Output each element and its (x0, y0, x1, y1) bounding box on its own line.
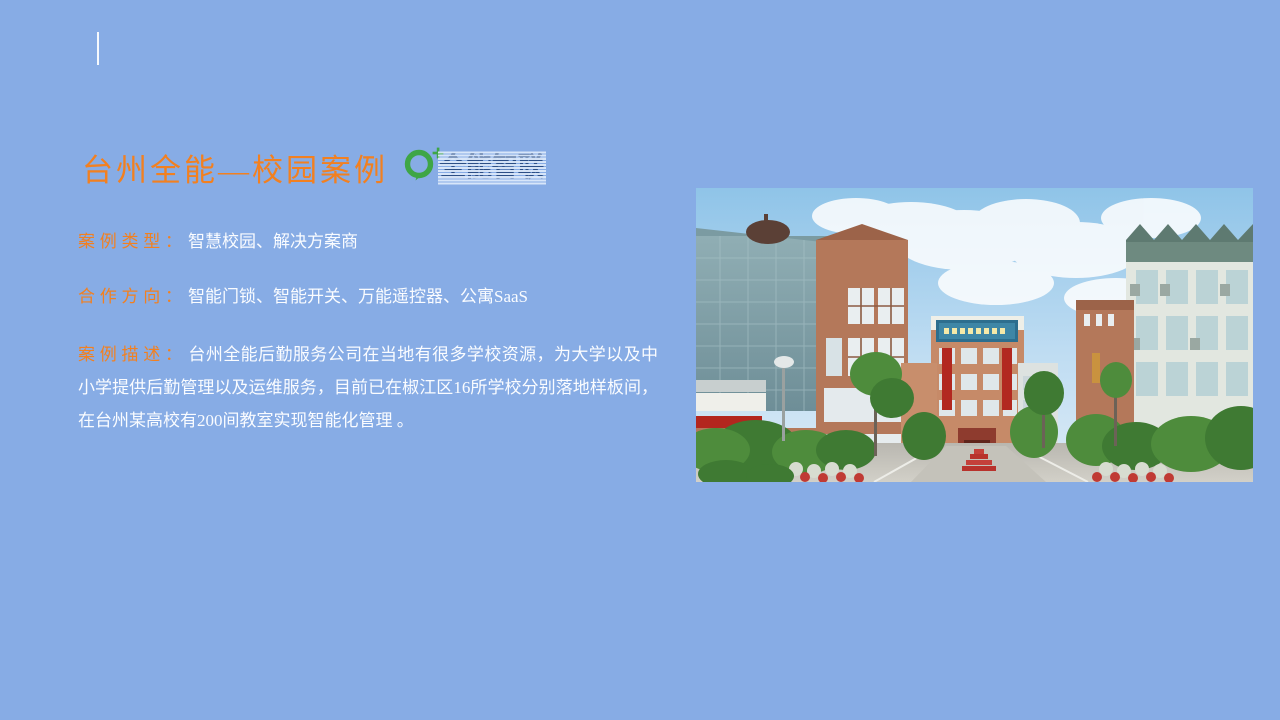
title-row: 台州全能—校园案例 全能智联 (82, 152, 544, 186)
slide-canvas: 台州全能—校园案例 全能智联 案例类型：智慧校园、解决方案商 (0, 0, 1280, 720)
field-cooperation-direction: 合作方向：智能门锁、智能开关、万能遥控器、公寓SaaS (78, 283, 668, 312)
content-block: 案例类型：智慧校园、解决方案商 合作方向：智能门锁、智能开关、万能遥控器、公寓S… (78, 228, 668, 437)
field-label: 案例描述： (78, 338, 182, 371)
field-case-description: 案例描述：台州全能后勤服务公司在当地有很多学校资源，为大学以及中小学提供后勤管理… (78, 338, 658, 437)
brand-wordmark: 全能智联 (440, 153, 544, 184)
campus-photo: 关爱学生的今天和明天 (696, 188, 1253, 482)
corner-rule-decoration (97, 32, 99, 65)
field-case-type: 案例类型：智慧校园、解决方案商 (78, 228, 668, 257)
brand-lockup: 全能智联 (404, 149, 544, 183)
page-title: 台州全能—校园案例 (82, 155, 388, 186)
field-label: 合作方向： (78, 283, 182, 311)
field-value: 智能门锁、智能开关、万能遥控器、公寓SaaS (188, 287, 528, 306)
field-label: 案例类型： (78, 228, 182, 256)
campus-photo-image (696, 188, 1253, 482)
q-plus-logo-icon (404, 149, 438, 183)
field-value: 智慧校园、解决方案商 (188, 232, 358, 251)
